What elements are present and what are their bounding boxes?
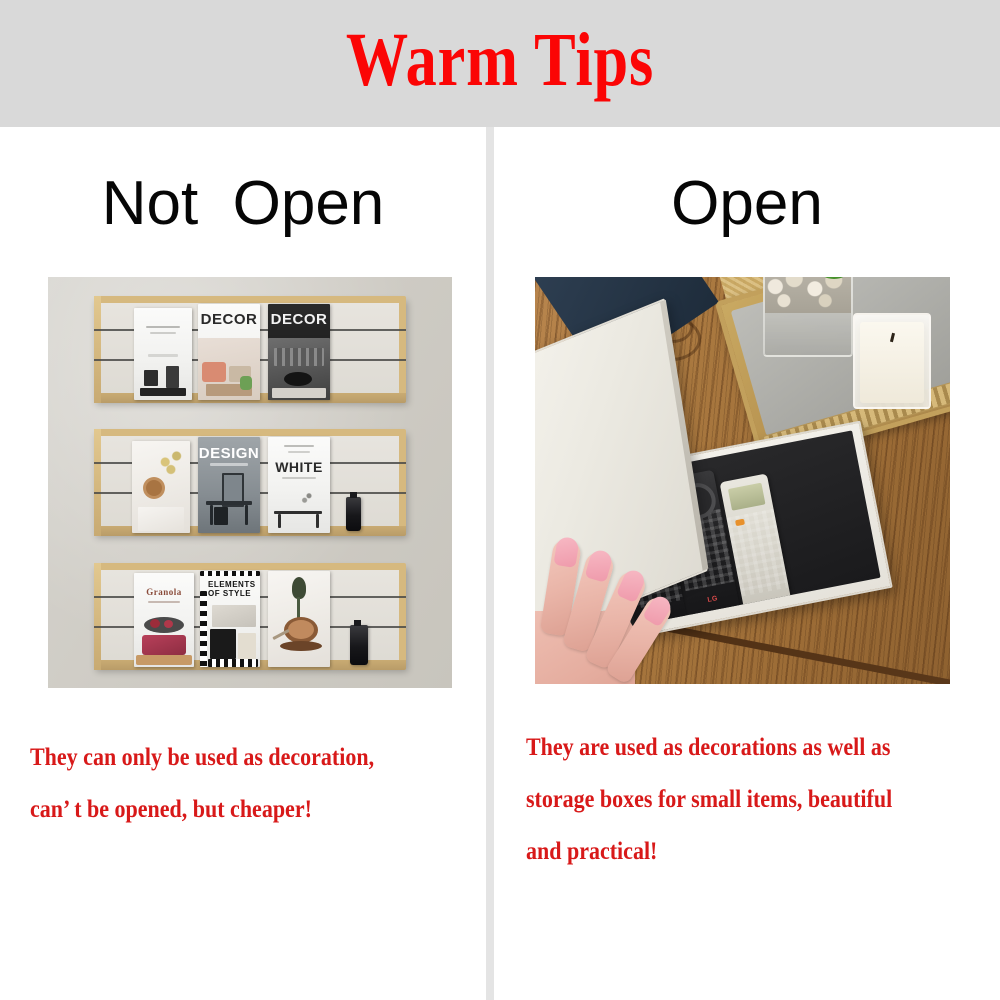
page-title: Warm Tips bbox=[90, 14, 910, 106]
header-band: Warm Tips bbox=[0, 0, 1000, 127]
magazine-blank-white bbox=[134, 308, 192, 400]
shelf-tier-1: DECOR DECOR bbox=[94, 296, 406, 400]
magazine-design-gray: DESIGN bbox=[198, 437, 260, 533]
pebble-vase-plant bbox=[763, 277, 853, 357]
magazine-title-white: WHITE bbox=[268, 459, 330, 475]
perfume-bottle-black bbox=[350, 625, 368, 665]
fingernail bbox=[554, 536, 580, 568]
column-not-open: Not Open DECOR bbox=[0, 127, 486, 1000]
magazine-floral-marble bbox=[132, 441, 190, 533]
book-title-granola: Granola bbox=[134, 587, 194, 597]
column-heading-not-open: Not Open bbox=[0, 169, 486, 239]
caption-not-open: They can only be used as decoration, can… bbox=[30, 732, 488, 836]
fingernail bbox=[642, 593, 673, 627]
glass-candle bbox=[853, 313, 931, 409]
magazine-decor-black: DECOR bbox=[268, 304, 330, 400]
magazine-title-design: DESIGN bbox=[198, 445, 260, 462]
hand-with-pink-nails bbox=[535, 535, 705, 684]
book-elements-of-style: ELEMENTS OF STYLE bbox=[200, 571, 260, 667]
magazine-title-decor: DECOR bbox=[268, 311, 330, 328]
fingernail bbox=[585, 548, 614, 583]
book-granola: Granola bbox=[134, 573, 194, 667]
magazine-latte-marble bbox=[268, 571, 330, 667]
decorative-pebbles bbox=[765, 277, 851, 313]
book-title-elements-of-style: ELEMENTS OF STYLE bbox=[208, 580, 258, 598]
photo-not-open-shelf: DECOR DECOR bbox=[48, 277, 452, 688]
remote-lcd-screen bbox=[728, 483, 766, 511]
magazine-title-decor: DECOR bbox=[198, 311, 260, 328]
shelf-tier-2: DESIGN WHITE bbox=[94, 429, 406, 533]
column-open: Open bbox=[494, 127, 1000, 1000]
fingernail bbox=[616, 567, 647, 603]
column-heading-open: Open bbox=[494, 169, 1000, 239]
magazine-decor-white: DECOR bbox=[198, 304, 260, 400]
caption-open: They are used as decorations as well as … bbox=[526, 722, 1000, 878]
photo-open-book-box: Panasonic LG Panasonic bbox=[535, 277, 950, 684]
magazine-white-cover: WHITE bbox=[268, 437, 330, 533]
shelf-tier-3: Granola ELEMENTS OF STYLE bbox=[94, 563, 406, 667]
perfume-bottle-black bbox=[346, 497, 361, 531]
column-divider bbox=[486, 127, 494, 1000]
warm-tips-infographic: Warm Tips Not Open bbox=[0, 0, 1000, 1000]
